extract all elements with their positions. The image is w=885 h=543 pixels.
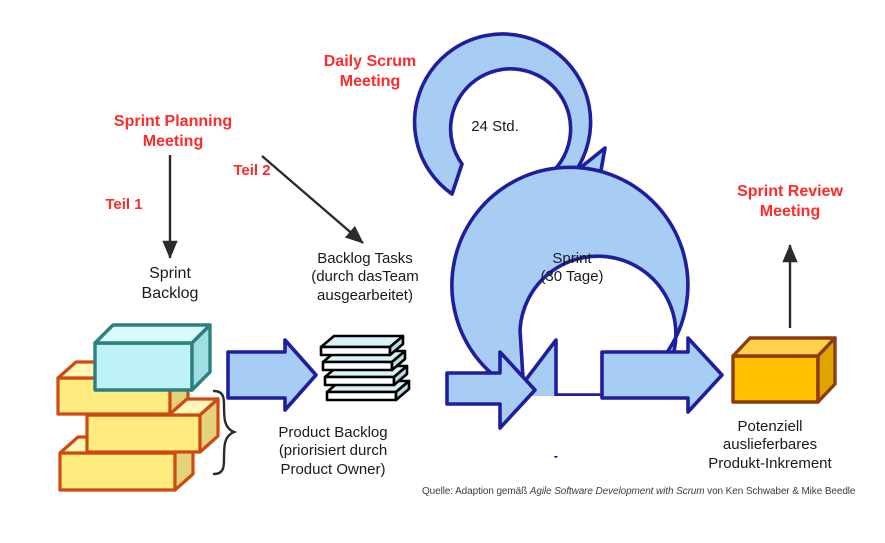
source-attribution: Quelle: Adaption gemäß Agile Software De…: [422, 486, 855, 497]
label-teil-1: Teil 1: [92, 196, 156, 214]
label-sprint-planning-meeting: Sprint Planning Meeting: [78, 112, 268, 151]
label-product-increment: Potenziell auslieferbares Produkt-Inkrem…: [672, 418, 868, 473]
label-product-backlog: Product Backlog (priorisiert durch Produ…: [240, 424, 426, 479]
label-backlog-tasks: Backlog Tasks (durch dasTeam ausgearbeit…: [270, 250, 460, 305]
label-daily-scrum-meeting: Daily Scrum Meeting: [275, 52, 465, 91]
source-prefix: Quelle: Adaption gemäß: [422, 486, 530, 497]
label-sprint-backlog: Sprint Backlog: [100, 264, 240, 303]
sprint-backlog-cube: [95, 325, 210, 390]
block-arrow-to-backlog-tasks: [228, 340, 316, 410]
product-increment-cube: [733, 338, 835, 402]
label-sprint-cycle-duration: Sprint (30 Tage): [508, 250, 636, 287]
label-sprint-review-meeting: Sprint Review Meeting: [700, 182, 880, 221]
label-teil-2: Teil 2: [219, 162, 285, 180]
backlog-tasks-paper-stack: [321, 336, 409, 400]
scrum-diagram-canvas: Sprint Planning Meeting Daily Scrum Meet…: [0, 0, 885, 543]
label-daily-cycle-duration: 24 Std.: [440, 118, 550, 136]
source-suffix: von Ken Schwaber & Mike Beedle: [705, 486, 856, 497]
source-work-title: Agile Software Development with Scrum: [530, 486, 705, 497]
